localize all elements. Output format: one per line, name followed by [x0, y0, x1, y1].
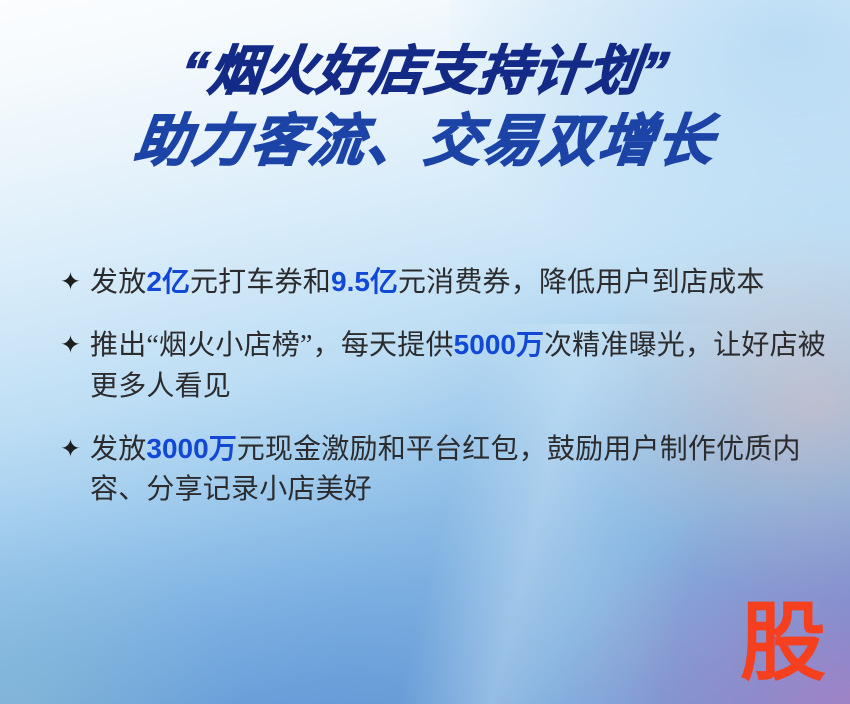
bullet-item: ✦推出“烟火小店榜”，每天提供5000万次精准曝光，让好店被更多人看见	[60, 325, 832, 407]
bullet-text: 推出“烟火小店榜”，每天提供5000万次精准曝光，让好店被更多人看见	[90, 325, 832, 407]
sparkle-bullet-icon: ✦	[60, 262, 90, 302]
title-line-2: 助力客流、交易双增长	[0, 111, 850, 170]
sparkle-bullet-icon: ✦	[60, 429, 90, 469]
bullet-item: ✦发放3000万元现金激励和平台红包，鼓励用户制作优质内容、分享记录小店美好	[60, 429, 832, 511]
bullet-text: 发放3000万元现金激励和平台红包，鼓励用户制作优质内容、分享记录小店美好	[90, 429, 832, 511]
bullet-text-segment: 推出“烟火小店榜”，每天提供	[90, 330, 454, 361]
bullet-highlight-value: 9.5亿	[331, 266, 398, 297]
bullet-highlight-value: 2亿	[146, 266, 190, 297]
sparkle-bullet-icon: ✦	[60, 325, 90, 365]
title-block: “烟火好店支持计划” 助力客流、交易双增长	[0, 44, 850, 171]
bullet-text-segment: 发放	[90, 267, 146, 298]
bullet-list: ✦发放2亿元打车券和9.5亿元消费券，降低用户到店成本✦推出“烟火小店榜”，每天…	[60, 262, 832, 533]
bullet-highlight-value: 5000万	[454, 329, 544, 360]
watermark-logo: 股	[740, 600, 826, 686]
bullet-text-segment: 元打车券和	[190, 267, 331, 298]
promo-poster: “烟火好店支持计划” 助力客流、交易双增长 ✦发放2亿元打车券和9.5亿元消费券…	[0, 0, 850, 704]
bullet-highlight-value: 3000万	[146, 433, 236, 464]
bullet-item: ✦发放2亿元打车券和9.5亿元消费券，降低用户到店成本	[60, 262, 832, 303]
bullet-text-segment: 元消费券，降低用户到店成本	[398, 267, 765, 298]
title-line-1: “烟火好店支持计划”	[0, 44, 850, 100]
bullet-text-segment: 发放	[90, 434, 146, 465]
poster-content: “烟火好店支持计划” 助力客流、交易双增长 ✦发放2亿元打车券和9.5亿元消费券…	[0, 0, 850, 704]
bullet-text: 发放2亿元打车券和9.5亿元消费券，降低用户到店成本	[90, 262, 832, 303]
